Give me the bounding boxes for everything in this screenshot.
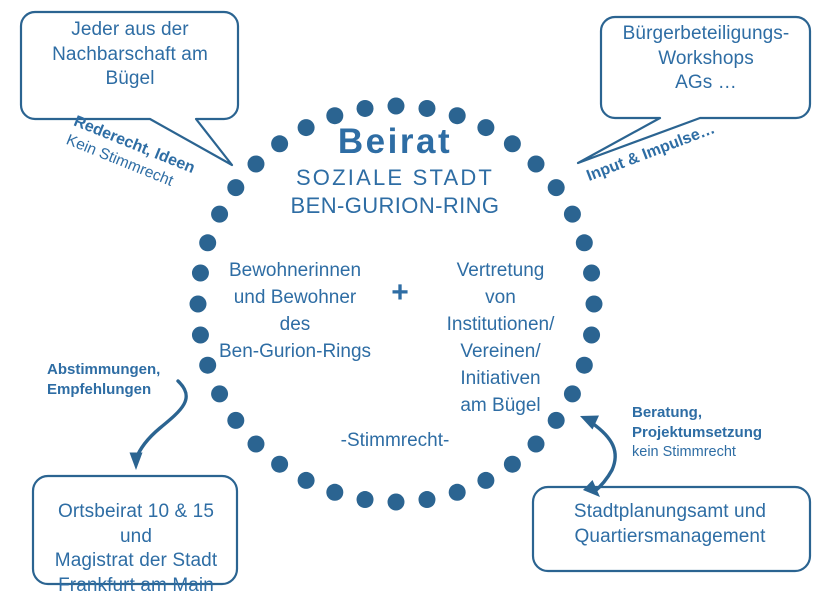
callout-line: Workshops bbox=[608, 47, 804, 72]
callout-line: Frankfurt am Main bbox=[40, 574, 232, 599]
callout-line: Magistrat der Stadt bbox=[40, 549, 232, 574]
ring-dot bbox=[388, 494, 405, 511]
title-subtitle-line1: SOZIALE STADT bbox=[235, 164, 555, 193]
callout-line: Bügel bbox=[28, 67, 232, 92]
ring-dot bbox=[504, 456, 521, 473]
ring-dot bbox=[357, 100, 374, 117]
ring-dot bbox=[418, 491, 435, 508]
members-institutions-column: Vertretung von Institutionen/ Vereinen/ … bbox=[423, 258, 578, 420]
ring-dot bbox=[190, 296, 207, 313]
members-institutions-line: Initiativen bbox=[423, 366, 578, 393]
connector-label-input-impulse: Input & Impulse… bbox=[584, 119, 718, 187]
callout-line: Ortsbeirat 10 & 15 bbox=[40, 500, 232, 525]
ring-dot bbox=[576, 357, 593, 374]
members-institutions-line: von bbox=[423, 285, 578, 312]
members-residents-column: Bewohnerinnen und Bewohner des Ben-Gurio… bbox=[207, 258, 383, 366]
callout-line: und bbox=[40, 525, 232, 550]
ring-dot bbox=[298, 472, 315, 489]
ring-dot bbox=[477, 472, 494, 489]
ring-dot bbox=[583, 326, 600, 343]
members-institutions-line: Vereinen/ bbox=[423, 339, 578, 366]
ring-dot bbox=[199, 234, 216, 251]
callout-text-top-left: Jeder aus der Nachbarschaft am Bügel bbox=[28, 18, 232, 92]
ring-dot bbox=[247, 436, 264, 453]
ring-dot bbox=[418, 100, 435, 117]
members-residents-line: und Bewohner bbox=[207, 285, 383, 312]
ring-dot bbox=[449, 484, 466, 501]
ring-dot bbox=[357, 491, 374, 508]
callout-text-bottom-left: Ortsbeirat 10 & 15 und Magistrat der Sta… bbox=[40, 500, 232, 599]
diagram-canvas: Beirat SOZIALE STADT BEN-GURION-RING Bew… bbox=[0, 0, 820, 600]
connector-label-rederecht: Rederecht, Ideen Kein Stimmrecht bbox=[63, 112, 198, 198]
callout-line: Stadtplanungsamt und bbox=[540, 500, 800, 525]
callout-line: Nachbarschaft am bbox=[28, 43, 232, 68]
ring-dot bbox=[528, 436, 545, 453]
arrow-beratung bbox=[580, 416, 615, 498]
voting-right-note: -Stimmrecht- bbox=[310, 430, 480, 452]
ring-dot bbox=[211, 385, 228, 402]
members-residents-line: des bbox=[207, 312, 383, 339]
arrow-label-abstimmungen: Abstimmungen, Empfehlungen bbox=[47, 360, 160, 400]
center-title-group: Beirat SOZIALE STADT BEN-GURION-RING bbox=[235, 124, 555, 218]
ring-dot bbox=[211, 206, 228, 223]
arrow-label-line: Projektumsetzung bbox=[632, 423, 762, 443]
ring-dot bbox=[271, 456, 288, 473]
arrow-label-line: kein Stimmrecht bbox=[632, 443, 762, 462]
callout-line: Quartiersmanagement bbox=[540, 525, 800, 550]
arrow-label-beratung: Beratung, Projektumsetzung kein Stimmrec… bbox=[632, 403, 762, 463]
callout-line: AGs … bbox=[608, 71, 804, 96]
members-institutions-line: Institutionen/ bbox=[423, 312, 578, 339]
arrow-label-line: Empfehlungen bbox=[47, 380, 160, 400]
plus-icon: + bbox=[385, 278, 415, 308]
ring-dot bbox=[326, 484, 343, 501]
ring-dot bbox=[564, 206, 581, 223]
ring-dot bbox=[388, 98, 405, 115]
ring-dot bbox=[227, 412, 244, 429]
ring-dot bbox=[583, 265, 600, 282]
ring-dot bbox=[586, 296, 603, 313]
callout-text-bottom-right: Stadtplanungsamt und Quartiersmanagement bbox=[540, 500, 800, 549]
arrow-label-line: Abstimmungen, bbox=[47, 360, 160, 380]
members-institutions-line: am Bügel bbox=[423, 393, 578, 420]
callout-line: Jeder aus der bbox=[28, 18, 232, 43]
members-residents-line: Bewohnerinnen bbox=[207, 258, 383, 285]
arrow-label-line: Beratung, bbox=[632, 403, 762, 423]
page-title: Beirat bbox=[235, 124, 555, 159]
callout-line: Bürgerbeteiligungs- bbox=[608, 22, 804, 47]
title-subtitle-line2: BEN-GURION-RING bbox=[235, 193, 555, 218]
callout-text-top-right: Bürgerbeteiligungs- Workshops AGs … bbox=[608, 22, 804, 96]
members-residents-line: Ben-Gurion-Rings bbox=[207, 339, 383, 366]
members-institutions-line: Vertretung bbox=[423, 258, 578, 285]
ring-dot bbox=[576, 234, 593, 251]
